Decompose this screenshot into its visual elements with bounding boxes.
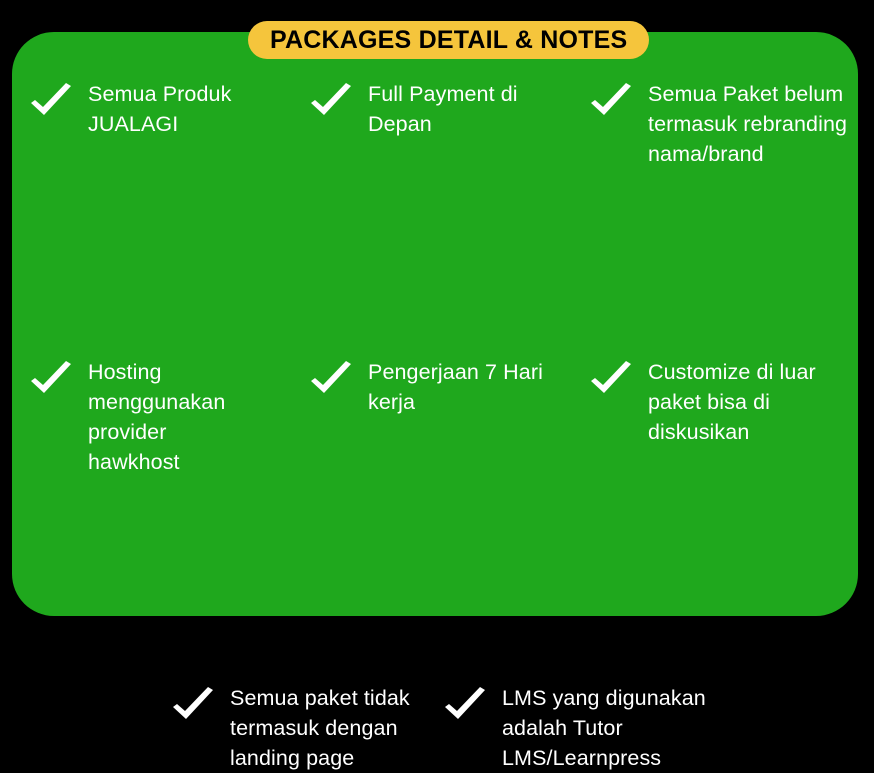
note-item: Semua Paket belum termasuk rebranding na… — [588, 78, 868, 169]
notes-row-3: Semua paket tidak termasuk dengan landin… — [164, 386, 874, 773]
note-item: Semua paket tidak termasuk dengan landin… — [170, 682, 442, 773]
note-item-label: Semua paket tidak termasuk dengan landin… — [230, 682, 415, 773]
check-icon — [170, 686, 216, 726]
note-item-label: LMS yang digunakan adalah Tutor LMS/Lear… — [502, 682, 707, 773]
note-item: Full Payment di Depan — [308, 78, 588, 169]
note-item: Semua Produk JUALAGI — [28, 78, 308, 169]
check-icon — [442, 686, 488, 726]
check-icon — [588, 82, 634, 122]
check-icon — [28, 360, 74, 400]
note-item-label: Full Payment di Depan — [368, 78, 560, 139]
slide-root: PACKAGES DETAIL & NOTES Semua Produk JUA… — [0, 0, 874, 640]
notes-grid: Semua Produk JUALAGI Full Payment di Dep… — [12, 32, 858, 616]
check-icon — [308, 82, 354, 122]
note-item: LMS yang digunakan adalah Tutor LMS/Lear… — [442, 682, 722, 773]
title-banner: PACKAGES DETAIL & NOTES — [248, 21, 649, 59]
check-icon — [28, 82, 74, 122]
note-item-label: Semua Produk JUALAGI — [88, 78, 288, 139]
note-item-label: Semua Paket belum termasuk rebranding na… — [648, 78, 854, 169]
notes-row-1: Semua Produk JUALAGI Full Payment di Dep… — [22, 78, 868, 169]
page-title: PACKAGES DETAIL & NOTES — [270, 28, 627, 53]
